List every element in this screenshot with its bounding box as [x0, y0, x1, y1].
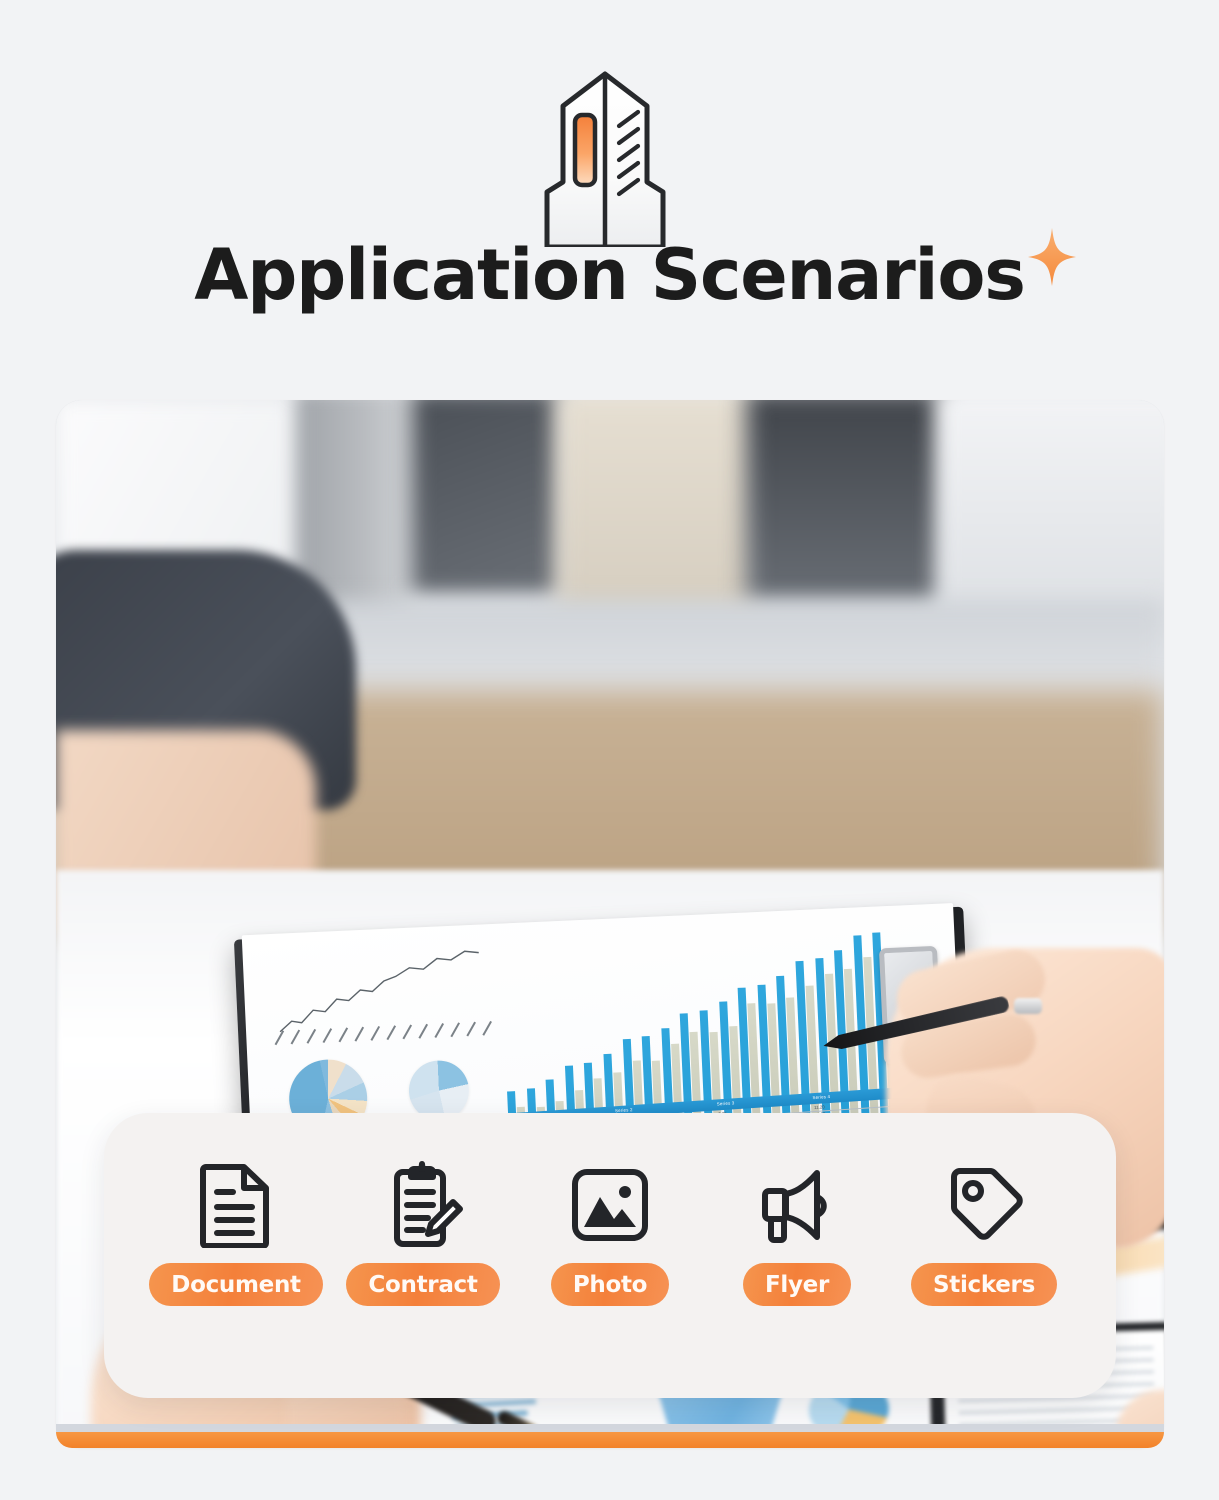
scenario-badge-stickers[interactable]: Stickers — [894, 1159, 1074, 1306]
scenario-badge-row: Document Con — [146, 1159, 1074, 1359]
photo-bottom-accent-stripe — [56, 1432, 1164, 1448]
pen-clip-ring — [1014, 998, 1042, 1014]
sparkle-icon — [1028, 228, 1076, 286]
scenario-badge-panel: Document Con — [104, 1113, 1116, 1398]
page-title: Application Scenarios — [194, 240, 1024, 310]
scenario-badge-label[interactable]: Photo — [551, 1263, 669, 1306]
building-tower-icon — [495, 62, 715, 247]
megaphone-icon — [755, 1159, 839, 1251]
page-header: Application Scenarios — [0, 0, 1219, 395]
scenario-badge-photo[interactable]: Photo — [520, 1159, 700, 1306]
scenario-badge-label[interactable]: Flyer — [743, 1263, 851, 1306]
scenario-badge-label[interactable]: Contract — [346, 1263, 499, 1306]
scenario-badge-label[interactable]: Document — [149, 1263, 322, 1306]
tag-icon — [944, 1159, 1024, 1251]
scenario-badge-contract[interactable]: Contract — [333, 1159, 513, 1306]
background-dark-panel — [411, 400, 561, 595]
background-dark-panel-2 — [746, 400, 946, 605]
scenario-badge-document[interactable]: Document — [146, 1159, 326, 1306]
background-warm-panel — [556, 400, 756, 620]
scenario-badge-flyer[interactable]: Flyer — [707, 1159, 887, 1306]
image-icon — [570, 1159, 650, 1251]
application-scenarios-page: Application Scenarios — [0, 0, 1219, 1500]
scenario-badge-label[interactable]: Stickers — [911, 1263, 1057, 1306]
clipboard-pencil-icon — [383, 1159, 463, 1251]
document-icon — [199, 1159, 273, 1251]
